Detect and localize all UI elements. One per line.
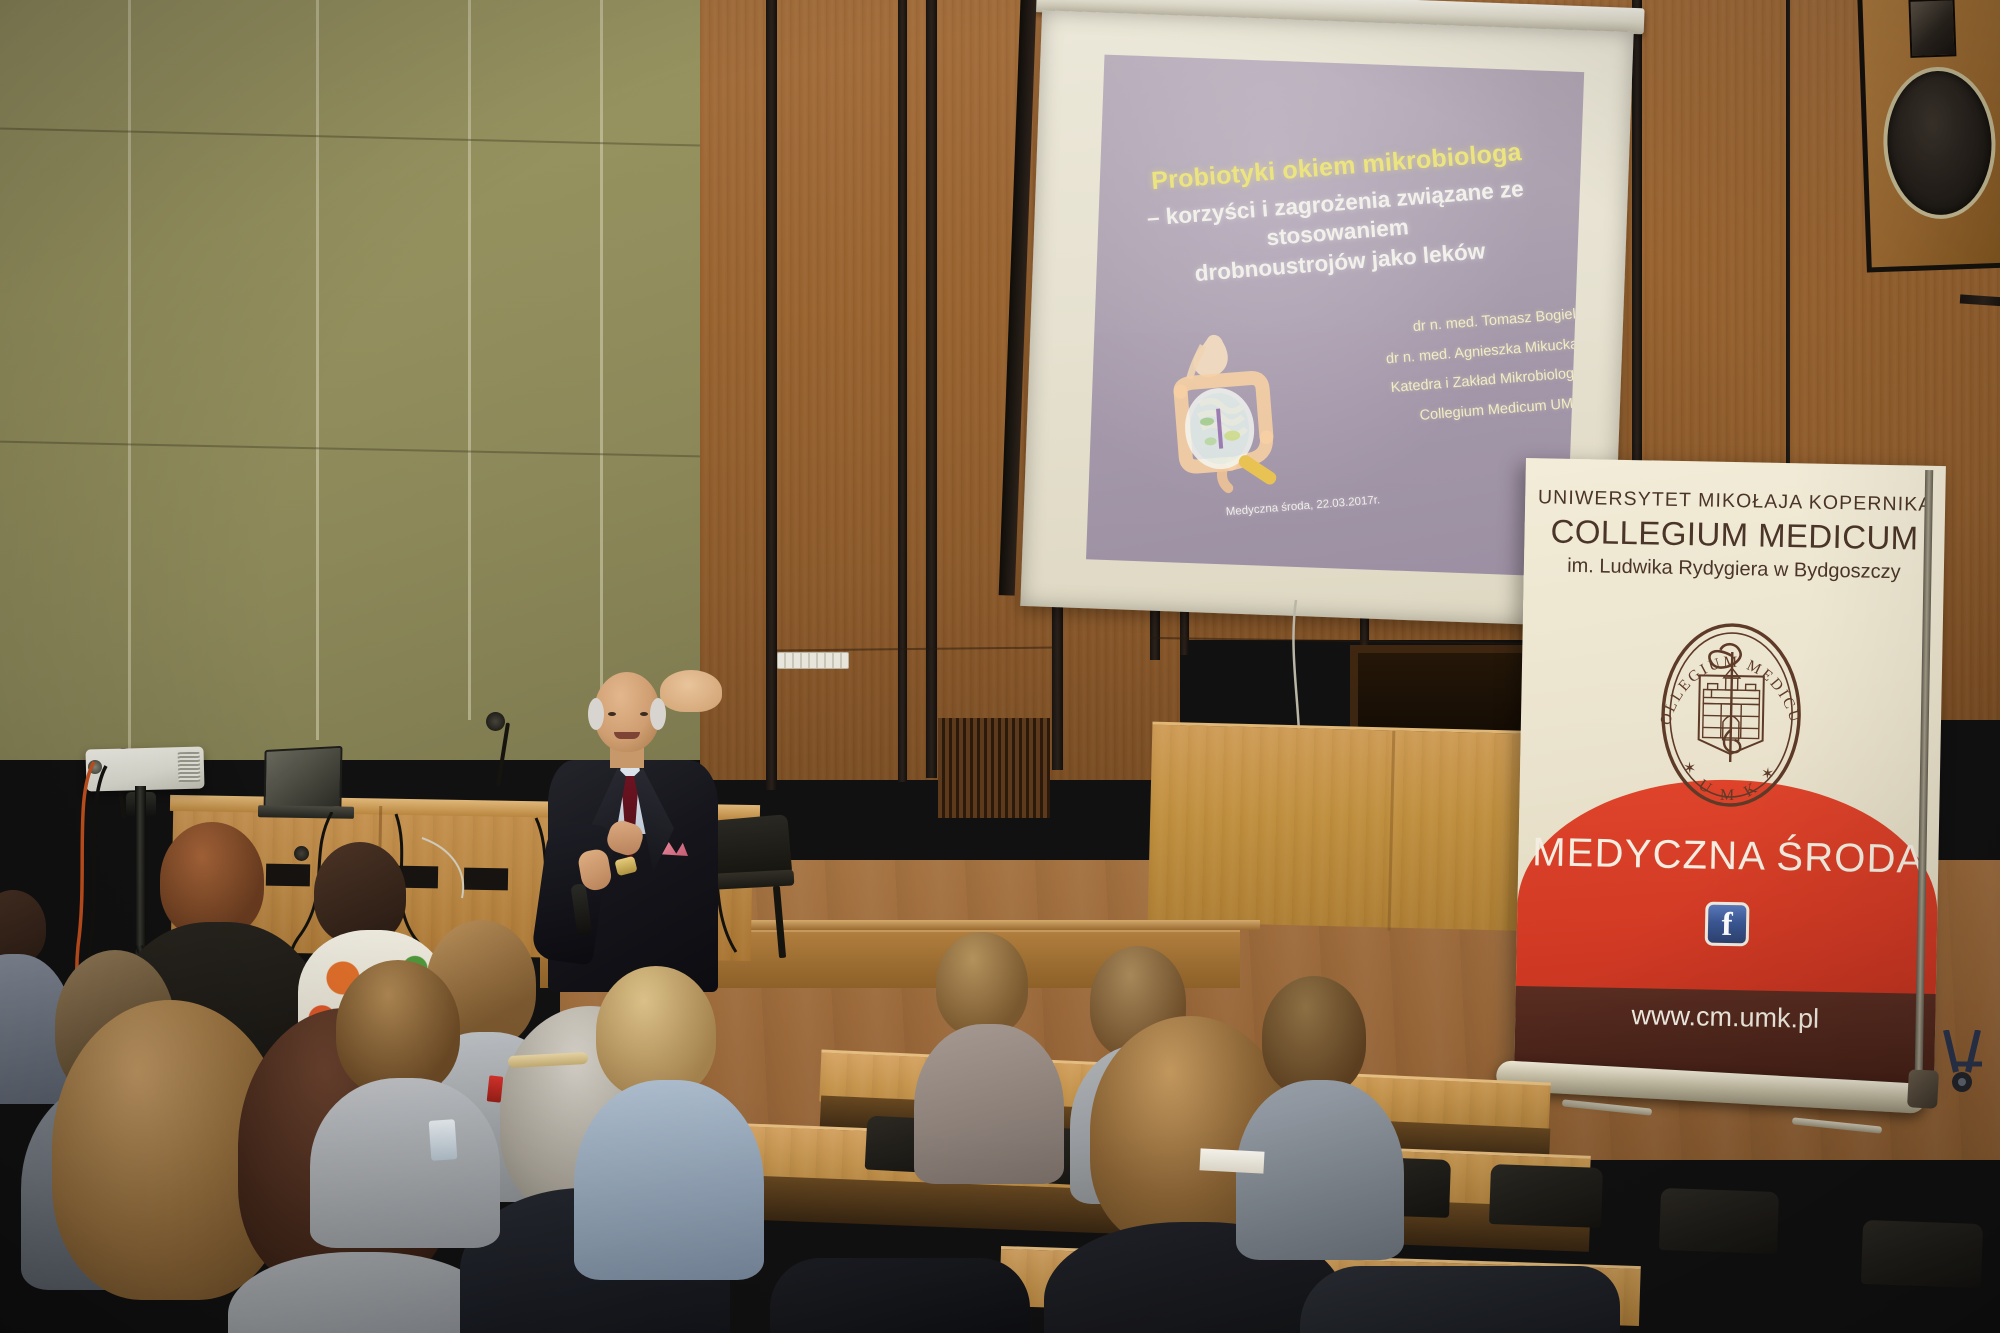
- hair: [0, 890, 46, 964]
- wall-light-fixture: [777, 652, 849, 669]
- coat: [1300, 1266, 1620, 1333]
- hair: [596, 966, 716, 1098]
- wall-mounted-loudspeaker-cabinet: [1857, 0, 2000, 273]
- laptop-screen[interactable]: [264, 746, 343, 812]
- hair: [314, 842, 406, 944]
- wall-grille: [938, 718, 1050, 818]
- audience-chair[interactable]: [1489, 1164, 1603, 1228]
- gooseneck-mic-head: [486, 712, 505, 731]
- railing-seam: [1387, 731, 1395, 931]
- drink-cup: [429, 1119, 458, 1161]
- wall-seam: [316, 0, 319, 740]
- torso: [310, 1078, 500, 1248]
- slide-author-block: dr n. med. Tomasz Bogiel dr n. med. Agni…: [1325, 300, 1584, 438]
- rollup-banner: UNIWERSYTET MIKOŁAJA KOPERNIKA COLLEGIUM…: [1514, 458, 1946, 1086]
- lecture-hall-photo: Probiotyki okiem mikrobiologa – korzyści…: [0, 0, 2000, 1333]
- audience-chair[interactable]: [1659, 1188, 1779, 1254]
- marker-pen: [487, 1075, 504, 1102]
- svg-text:✶ U M K ✶: ✶ U M K ✶: [1677, 758, 1783, 805]
- equipment-trolley: [1938, 1030, 1998, 1100]
- olive-wall-panels: [0, 0, 790, 760]
- presenter-forehead: [660, 670, 722, 712]
- hair: [336, 960, 460, 1096]
- torso: [770, 1258, 1030, 1333]
- wall-divider-strip: [766, 0, 777, 790]
- hair: [1262, 976, 1366, 1096]
- paper-sheet: [1199, 1148, 1264, 1173]
- presenter-hair-right: [650, 698, 666, 730]
- facebook-icon[interactable]: f: [1705, 902, 1750, 947]
- presenter-mouth: [614, 732, 640, 739]
- banner-faculty-line: COLLEGIUM MEDICUM: [1524, 512, 1945, 558]
- digestive-tract-with-magnifier-icon: [1150, 322, 1313, 503]
- projected-slide: Probiotyki okiem mikrobiologa – korzyści…: [1086, 55, 1584, 577]
- presenter-hair-left: [588, 698, 604, 730]
- audience-chair[interactable]: [1861, 1220, 1983, 1288]
- wall-seam: [468, 0, 471, 720]
- wall-seam: [128, 0, 131, 760]
- presenter-speaking-into-microphone: [530, 672, 730, 992]
- torso: [914, 1024, 1064, 1184]
- presenter-eye-right: [640, 712, 648, 716]
- wall-divider-strip: [898, 0, 907, 782]
- tweeter-horn-icon: [1908, 0, 1956, 58]
- hair: [160, 822, 264, 938]
- presenter-eye-left: [608, 712, 616, 716]
- hair: [936, 932, 1028, 1036]
- banner-event-title: MEDYCZNA ŚRODA: [1518, 830, 1939, 883]
- banner-base-end-cap: [1907, 1069, 1939, 1109]
- wall-seam: [600, 0, 603, 700]
- torso: [574, 1080, 764, 1280]
- woofer-driver-icon: [1881, 65, 1998, 221]
- collegium-medicum-seal-icon: COLLEGIUM MEDICUM ✶ U M K ✶: [1637, 610, 1825, 819]
- wall-divider-strip: [926, 0, 937, 778]
